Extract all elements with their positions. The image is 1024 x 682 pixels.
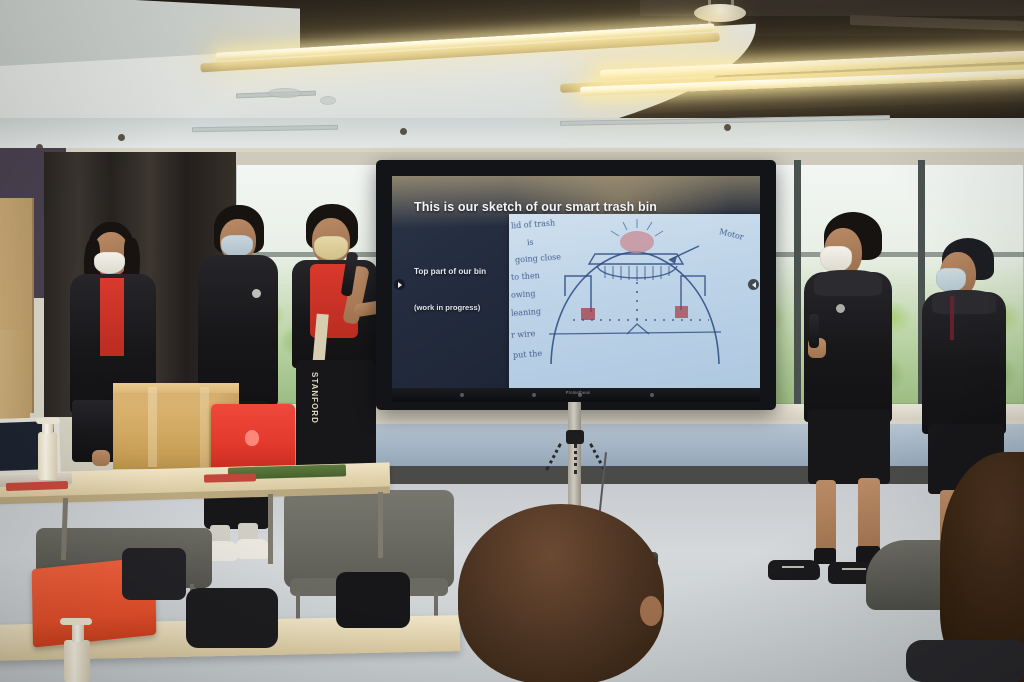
slide-nav-next-icon[interactable] [394,279,405,290]
table-leg [268,494,273,564]
shoe-stripes [842,568,866,570]
audience-shoulder [906,640,1024,682]
audience-ear [640,596,662,626]
legs-bare [858,478,880,556]
hood [814,270,882,296]
hand-sanitizer-bottle[interactable] [38,432,57,480]
display-screen[interactable]: This is our sketch of our smart trash bi… [392,176,760,388]
audience-member-center [458,504,664,682]
ceiling [0,0,1024,150]
bin-drawing [509,214,760,388]
hoodie-logo [836,304,845,313]
face-mask [221,235,253,257]
slide-nav-prev-icon[interactable] [748,279,759,290]
bag [122,548,186,600]
face-mask [314,236,348,260]
sanitizer-pump-top [60,618,92,625]
shoe [768,560,820,580]
shoe-stripes [782,566,804,568]
pants-text-stanford: STANFORD [306,372,319,444]
classroom-presentation-photo: STANFORD This is our sketch of our smart… [0,0,1024,682]
sketch-photo: lid of trash is going close to then owin… [509,214,760,388]
box-tape [200,387,209,467]
sanitizer-pump[interactable] [72,622,84,642]
legs-bare [816,480,836,556]
cardboard-box-lid [113,383,239,393]
jacket-lapel-left [76,276,100,416]
wooden-cabinet-lower [0,330,30,425]
display-bezel: Promethean [392,388,760,402]
backpack [186,588,278,648]
tripod-leg [574,444,577,474]
hoodie-trim [950,296,954,340]
red-mat [204,473,256,482]
table-leg [378,492,383,558]
tripod-camera[interactable] [566,430,584,444]
face-mask [94,252,125,274]
shoe [236,539,270,559]
slide-title: This is our sketch of our smart trash bi… [414,200,714,214]
apple-logo-icon [245,430,259,446]
face-mask [936,268,966,292]
student-boy-hoodie-mic [800,212,906,592]
jacket-logo [252,289,261,298]
shorts [808,410,890,484]
microphone[interactable] [809,314,819,348]
sanitizer-pump-top [36,418,60,424]
display-brand-label: Promethean [554,390,602,396]
hood [932,290,996,314]
face-mask [820,246,852,272]
box-tape [148,387,157,467]
hand [92,450,110,466]
backpack [336,572,410,628]
hand-sanitizer-bottle[interactable] [64,640,90,682]
